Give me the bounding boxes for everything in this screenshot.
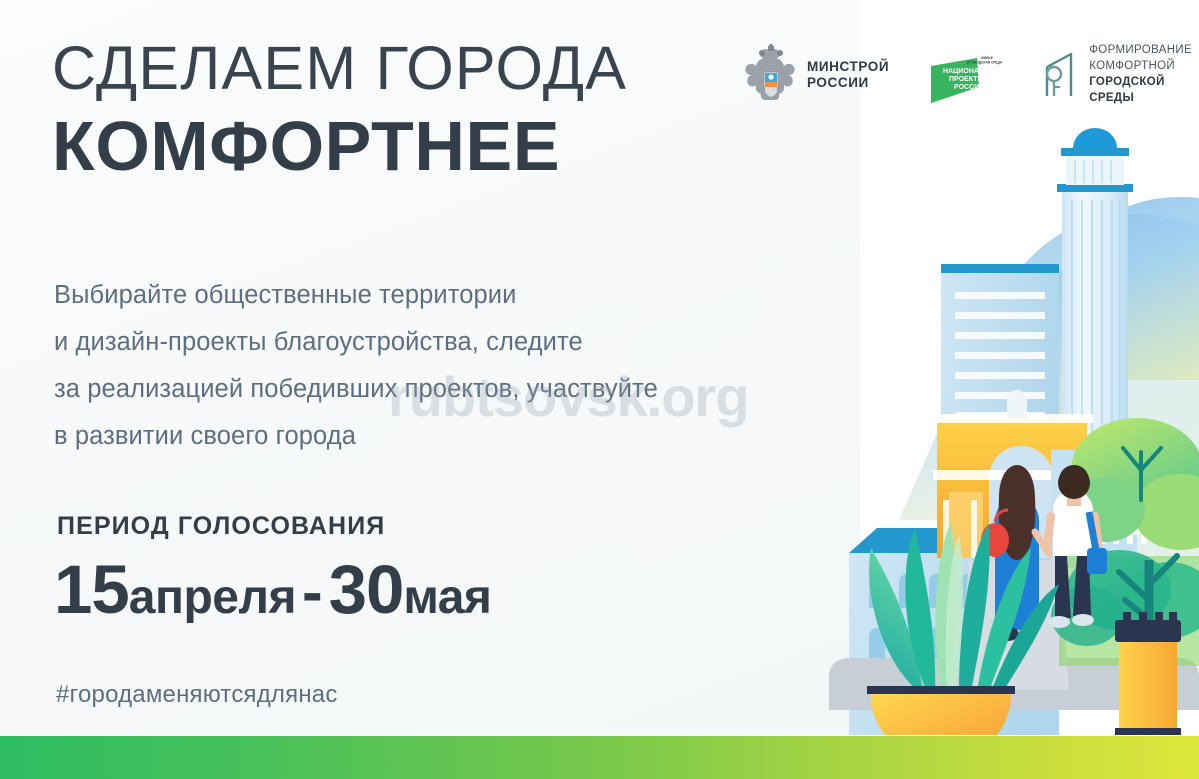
voting-period-label: ПЕРИОД ГОЛОСОВАНИЯ [57,512,385,541]
fkgs-line3: ГОРОДСКОЙ СРЕДЫ [1089,75,1192,107]
vote-start-month: апреля [129,571,296,624]
trash-bin [1115,612,1181,735]
formirovanie-komfortnoy-gorodskoy-sredy-logo: ФОРМИРОВАНИЕ КОМФОРТНОЙ ГОРОДСКОЙ СРЕДЫ [1041,43,1192,106]
fkgs-line2: КОМФОРТНОЙ [1089,59,1192,75]
headline-line-1: СДЕЛАЕМ ГОРОДА [52,34,732,102]
body-line-3: за реализацией победивших проектов, учас… [54,366,794,413]
house-key-icon [1041,51,1079,99]
minstroy-label: МИНСТРОЙ РОССИИ [807,59,889,92]
fkgs-line1: ФОРМИРОВАНИЕ [1089,43,1192,59]
body-line-1: Выбирайте общественные территории [54,272,794,319]
vote-end-day: 30 [329,551,404,628]
double-headed-eagle-icon [744,44,798,106]
minstroy-rossii-logo: МИНСТРОЙ РОССИИ [744,44,889,106]
svg-text:РОССИИ: РОССИИ [954,84,984,91]
vote-start-day: 15 [54,551,129,628]
fkgs-label: ФОРМИРОВАНИЕ КОМФОРТНОЙ ГОРОДСКОЙ СРЕДЫ [1089,43,1192,106]
headline-line-2: КОМФОРТНЕЕ [52,108,732,185]
svg-text:ПРОЕКТЫ: ПРОЕКТЫ [949,76,984,83]
minstroy-line2: РОССИИ [807,75,889,91]
vote-end-month: мая [403,571,491,624]
body-line-4: в развитии своего города [54,413,794,460]
headline: СДЕЛАЕМ ГОРОДА КОМФОРТНЕЕ [52,34,732,185]
body-line-2: и дизайн-проекты благоустройства, следит… [54,319,794,366]
voting-period-dates: 15апреля-30мая [54,550,491,629]
svg-text:НАЦИОНАЛЬНЫЕ: НАЦИОНАЛЬНЫЕ [943,68,1006,75]
green-gradient-bar [0,736,1199,779]
svg-text:ЖИЛЬЕ: ЖИЛЬЕ [980,56,993,60]
svg-text:И ГОРОДСКАЯ СРЕДА: И ГОРОДСКАЯ СРЕДА [967,61,1003,65]
body-copy: Выбирайте общественные территории и диза… [54,272,794,460]
campaign-hashtag: #городаменяютсядлянас [56,681,338,709]
logo-row: МИНСТРОЙ РОССИИ ЖИЛЬЕ И ГОРОДСКАЯ СРЕДА … [744,34,1184,116]
poster-root: МИНСТРОЙ РОССИИ ЖИЛЬЕ И ГОРОДСКАЯ СРЕДА … [0,0,1199,779]
vote-range-dash: - [296,558,329,627]
minstroy-line1: МИНСТРОЙ [807,59,889,75]
natsionalnye-proekty-rossii-logo: ЖИЛЬЕ И ГОРОДСКАЯ СРЕДА НАЦИОНАЛЬНЫЕ ПРО… [925,43,1009,107]
